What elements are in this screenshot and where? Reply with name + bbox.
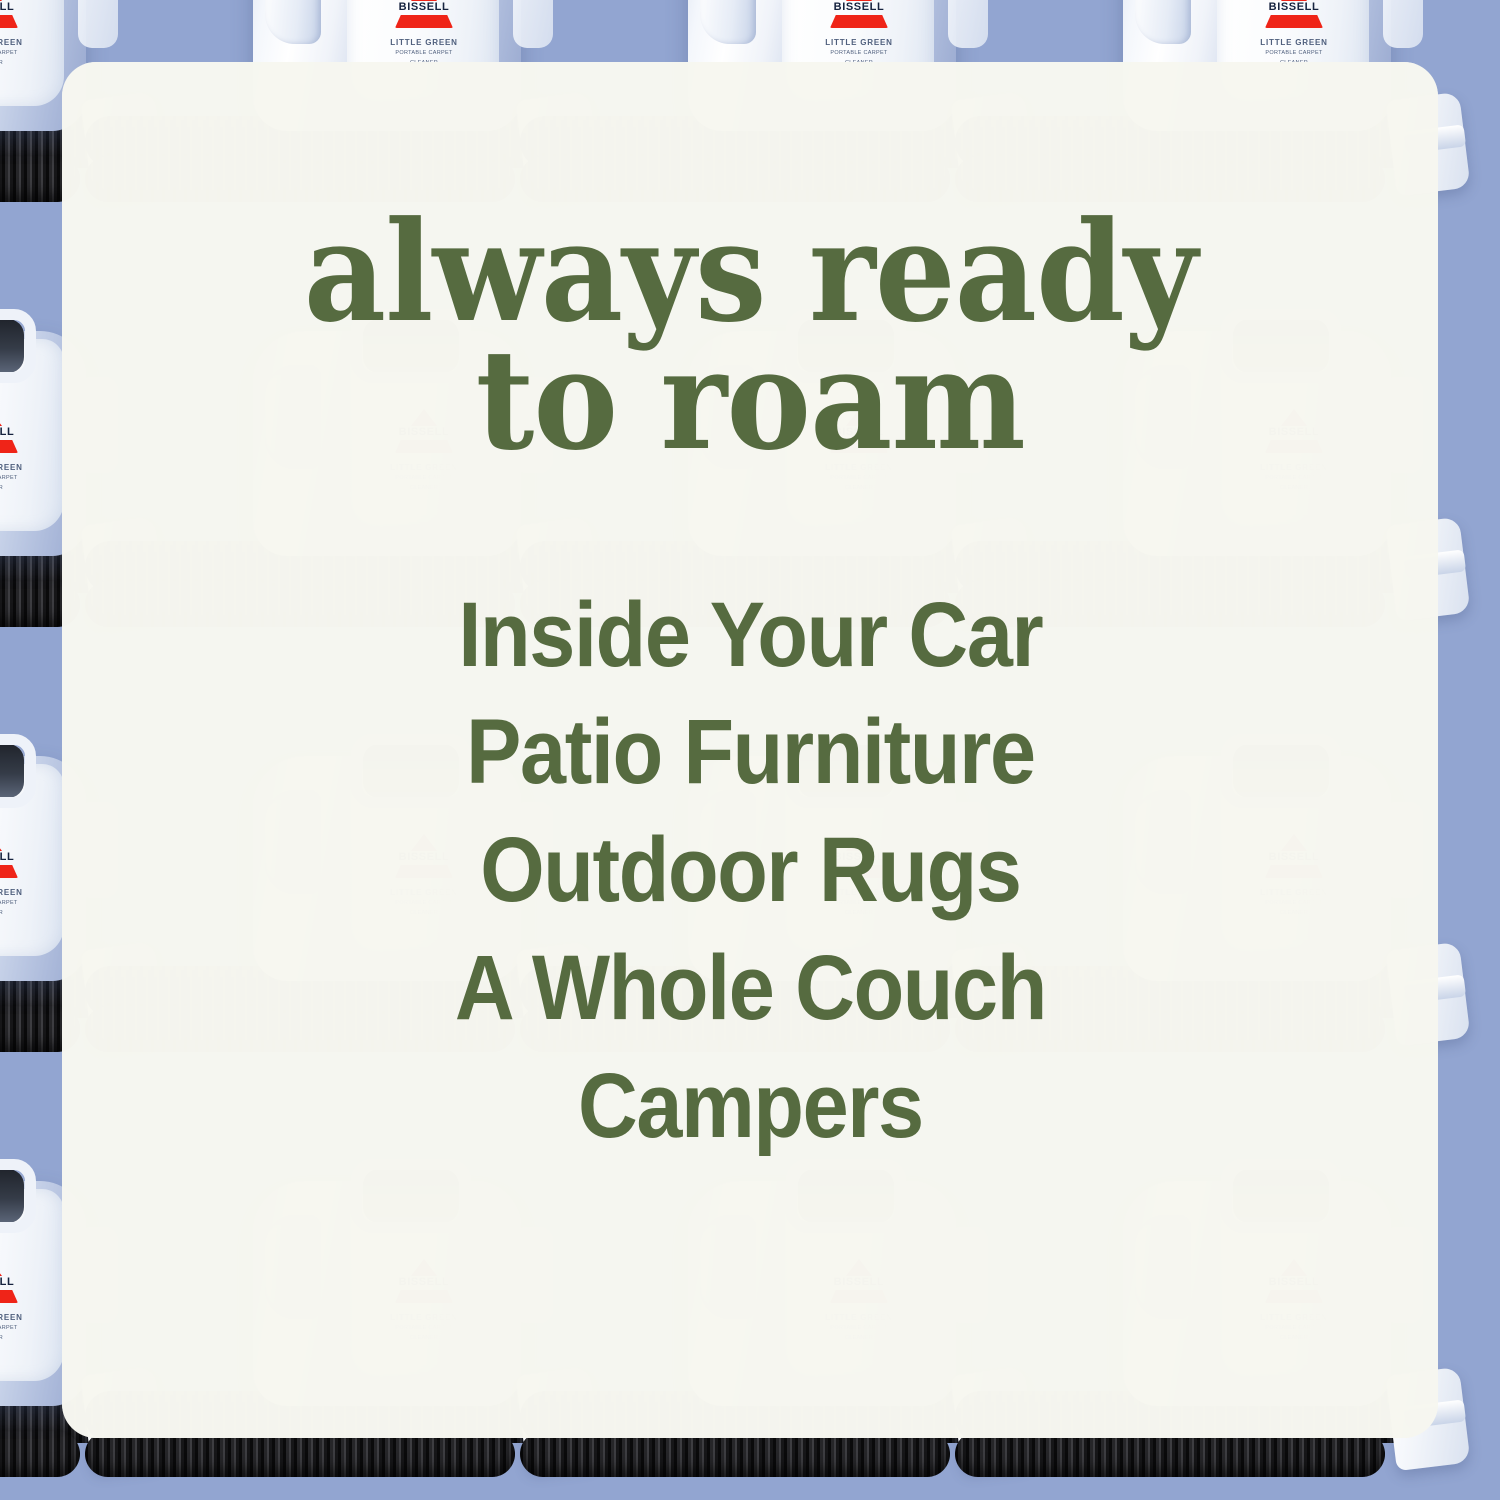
product-model-label: LITTLE GREENPORTABLE CARPET CLEANER — [0, 1313, 26, 1343]
bissell-bar-icon — [0, 440, 18, 453]
bissell-wordmark: BISSELL — [0, 1276, 26, 1289]
bissell-wordmark: BISSELL — [1257, 1, 1331, 14]
carry-handle — [0, 309, 36, 383]
content-card: always ready to roam Inside Your Car Pat… — [62, 62, 1438, 1438]
content-card-inner: always ready to roam Inside Your Car Pat… — [62, 62, 1438, 1438]
bissell-wordmark: BISSELL — [822, 1, 896, 14]
headline-line-1: always ready — [304, 208, 1197, 336]
use-case-item-outdoor-rugs: Outdoor Rugs — [454, 812, 1045, 930]
product-model-label: LITTLE GREENPORTABLE CARPET CLEANER — [0, 888, 26, 918]
bissell-bar-icon — [395, 15, 453, 28]
product-model-label: LITTLE GREENPORTABLE CARPET CLEANER — [0, 38, 26, 68]
bissell-triangle-icon — [0, 409, 2, 426]
bissell-bar-icon — [830, 15, 888, 28]
headline-line-2: to roam — [304, 336, 1197, 464]
bissell-bar-icon — [0, 865, 18, 878]
use-case-list: Inside Your Car Patio Furniture Outdoor … — [454, 577, 1045, 1166]
bissell-wordmark: BISSELL — [0, 1, 26, 14]
headline: always ready to roam — [304, 208, 1197, 465]
product-model-label: LITTLE GREENPORTABLE CARPET CLEANER — [0, 463, 26, 493]
promo-image-canvas: BISSELLLITTLE GREENPORTABLE CARPET CLEAN… — [0, 0, 1500, 1500]
use-case-item-a-whole-couch: A Whole Couch — [454, 930, 1045, 1048]
bissell-wordmark: BISSELL — [387, 1, 461, 14]
carry-handle — [0, 734, 36, 808]
use-case-item-inside-your-car: Inside Your Car — [454, 577, 1045, 695]
bissell-logo: BISSELLLITTLE GREENPORTABLE CARPET CLEAN… — [0, 1259, 26, 1343]
bissell-logo: BISSELLLITTLE GREENPORTABLE CARPET CLEAN… — [1257, 0, 1331, 68]
bissell-triangle-icon — [0, 834, 2, 851]
side-vent — [948, 0, 988, 48]
side-vent — [78, 0, 118, 48]
bissell-logo: BISSELLLITTLE GREENPORTABLE CARPET CLEAN… — [387, 0, 461, 68]
side-vent — [1383, 0, 1423, 48]
bissell-bar-icon — [0, 15, 18, 28]
use-case-item-patio-furniture: Patio Furniture — [454, 694, 1045, 812]
bissell-logo: BISSELLLITTLE GREENPORTABLE CARPET CLEAN… — [0, 0, 26, 68]
carry-handle — [0, 1159, 36, 1233]
bissell-wordmark: BISSELL — [0, 851, 26, 864]
bissell-triangle-icon — [0, 1259, 2, 1276]
bissell-wordmark: BISSELL — [0, 426, 26, 439]
bissell-bar-icon — [1265, 15, 1323, 28]
bissell-logo: BISSELLLITTLE GREENPORTABLE CARPET CLEAN… — [0, 834, 26, 918]
side-vent — [513, 0, 553, 48]
bissell-bar-icon — [0, 1290, 18, 1303]
use-case-item-campers: Campers — [454, 1048, 1045, 1166]
bissell-logo: BISSELLLITTLE GREENPORTABLE CARPET CLEAN… — [822, 0, 896, 68]
bissell-logo: BISSELLLITTLE GREENPORTABLE CARPET CLEAN… — [0, 409, 26, 493]
